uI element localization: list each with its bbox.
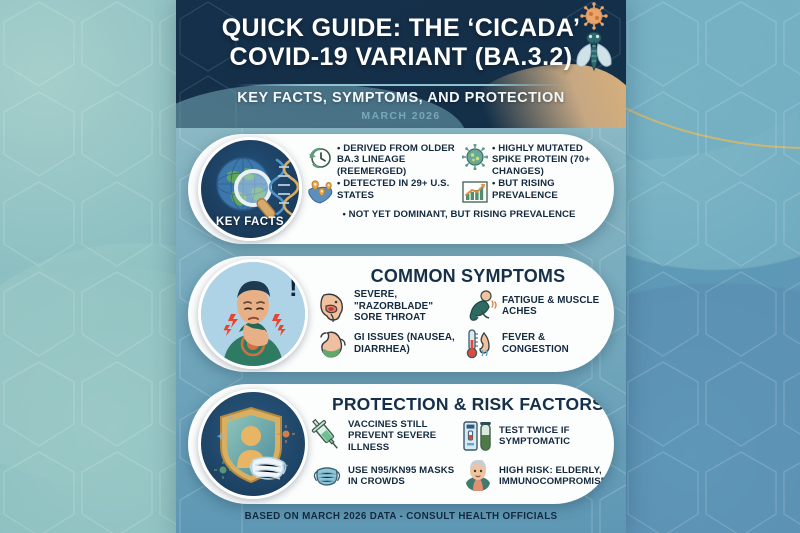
elderly-person-icon xyxy=(461,458,495,494)
key-facts-row: • DERIVED FROM OLDER BA.3 LINEAGE (REEME… xyxy=(306,142,612,177)
protection-risk-title: PROTECTION & RISK FACTORS xyxy=(320,394,614,415)
key-fact-text: • BUT RISING PREVALENCE xyxy=(492,177,612,201)
sore-throat-man-icon: ! xyxy=(201,262,305,366)
page-title: QUICK GUIDE: THE ‘CICADA’ COVID-19 VARIA… xyxy=(176,14,626,72)
key-facts-row: • DETECTED IN 29+ U.S. STATES xyxy=(306,177,612,207)
shield-person-mask-icon xyxy=(201,392,305,496)
protection-risk-card: PROTECTION & RISK FACTORS xyxy=(188,384,614,504)
page-title-line-1: QUICK GUIDE: THE ‘CICADA’ xyxy=(190,14,612,43)
key-facts-badge-label: KEY FACTS xyxy=(201,216,299,228)
infographic-poster: QUICK GUIDE: THE ‘CICADA’ COVID-19 VARIA… xyxy=(176,0,626,533)
key-fact-text: • HIGHLY MUTATED SPIKE PROTEIN (70+ CHAN… xyxy=(492,142,612,177)
fatigue-person-icon xyxy=(464,289,498,323)
page-title-line-2: COVID-19 VARIANT (BA.3.2) xyxy=(190,43,612,72)
symptom-text: FEVER & CONGESTION xyxy=(502,332,612,355)
key-fact-item: • DETECTED IN 29+ U.S. STATES xyxy=(306,177,457,207)
throat-head-icon xyxy=(316,289,350,323)
symptom-text: SEVERE, "RAZORBLADE" SORE THROAT xyxy=(354,289,464,324)
protection-item: VACCINES STILL PREVENT SEVERE ILLNESS xyxy=(310,418,461,454)
key-fact-text: • DERIVED FROM OLDER BA.3 LINEAGE (REEME… xyxy=(337,142,457,177)
rising-bar-chart-icon xyxy=(461,177,489,207)
protection-text: TEST TWICE IF SYMPTOMATIC xyxy=(499,425,612,448)
protection-row: USE N95/KN95 MASKS IN CROWDS xyxy=(310,458,612,494)
common-symptoms-badge: ! xyxy=(198,259,308,369)
key-fact-item: • BUT RISING PREVALENCE xyxy=(461,177,612,207)
screenshot-canvas: QUICK GUIDE: THE ‘CICADA’ COVID-19 VARIA… xyxy=(0,0,800,533)
symptom-item: GI ISSUES (NAUSEA, DIARRHEA) xyxy=(316,327,464,361)
title-divider xyxy=(236,84,566,86)
protection-text: USE N95/KN95 MASKS IN CROWDS xyxy=(348,465,461,488)
key-fact-item: • HIGHLY MUTATED SPIKE PROTEIN (70+ CHAN… xyxy=(461,142,612,177)
face-mask-icon xyxy=(310,458,344,494)
protection-risk-list: VACCINES STILL PREVENT SEVERE ILLNESS xyxy=(310,418,612,498)
stomach-icon xyxy=(316,327,350,361)
protection-item: USE N95/KN95 MASKS IN CROWDS xyxy=(310,458,461,494)
svg-text:!: ! xyxy=(289,272,298,302)
symptom-item: FATIGUE & MUSCLE ACHES xyxy=(464,289,612,324)
symptom-item: SEVERE, "RAZORBLADE" SORE THROAT xyxy=(316,289,464,324)
us-map-pins-icon xyxy=(306,177,334,207)
test-kit-icon xyxy=(461,418,495,454)
poster-header: QUICK GUIDE: THE ‘CICADA’ COVID-19 VARIA… xyxy=(176,0,626,128)
protection-risk-badge xyxy=(198,389,308,499)
poster-footer: BASED ON MARCH 2026 DATA - CONSULT HEALT… xyxy=(176,500,626,533)
virus-spike-icon xyxy=(461,142,489,172)
symptom-text: FATIGUE & MUSCLE ACHES xyxy=(502,295,612,318)
protection-text: VACCINES STILL PREVENT SEVERE ILLNESS xyxy=(348,419,461,453)
common-symptoms-card: ! COMMON SYMPTOMS xyxy=(188,256,614,372)
page-subtitle: KEY FACTS, SYMPTOMS, AND PROTECTION xyxy=(176,90,626,106)
protection-text: HIGH RISK: ELDERLY, IMMUNOCOMPROMISED xyxy=(499,465,614,488)
common-symptoms-title: COMMON SYMPTOMS xyxy=(323,266,613,287)
protection-item: TEST TWICE IF SYMPTOMATIC xyxy=(461,418,612,454)
thermometer-nose-icon xyxy=(464,327,498,361)
clock-rewind-icon xyxy=(306,142,334,172)
symptom-text: GI ISSUES (NAUSEA, DIARRHEA) xyxy=(354,332,464,355)
symptom-item: FEVER & CONGESTION xyxy=(464,327,612,361)
cicada-with-virus-icon xyxy=(570,2,618,76)
page-date: MARCH 2026 xyxy=(176,110,626,122)
key-facts-list: • DERIVED FROM OLDER BA.3 LINEAGE (REEME… xyxy=(306,142,612,220)
protection-item: HIGH RISK: ELDERLY, IMMUNOCOMPROMISED xyxy=(461,458,612,494)
symptoms-row: SEVERE, "RAZORBLADE" SORE THROAT xyxy=(316,289,612,324)
key-facts-card: KEY FACTS • xyxy=(188,134,614,244)
key-fact-text: • DETECTED IN 29+ U.S. STATES xyxy=(337,177,457,201)
symptoms-row: GI ISSUES (NAUSEA, DIARRHEA) xyxy=(316,327,612,361)
footer-disclaimer: BASED ON MARCH 2026 DATA - CONSULT HEALT… xyxy=(245,511,558,522)
key-facts-badge: KEY FACTS xyxy=(198,137,302,241)
common-symptoms-list: SEVERE, "RAZORBLADE" SORE THROAT xyxy=(316,289,612,364)
key-fact-summary: • NOT YET DOMINANT, BUT RISING PREVALENC… xyxy=(306,209,612,220)
syringe-icon xyxy=(310,418,344,454)
protection-row: VACCINES STILL PREVENT SEVERE ILLNESS xyxy=(310,418,612,454)
key-fact-item: • DERIVED FROM OLDER BA.3 LINEAGE (REEME… xyxy=(306,142,457,177)
